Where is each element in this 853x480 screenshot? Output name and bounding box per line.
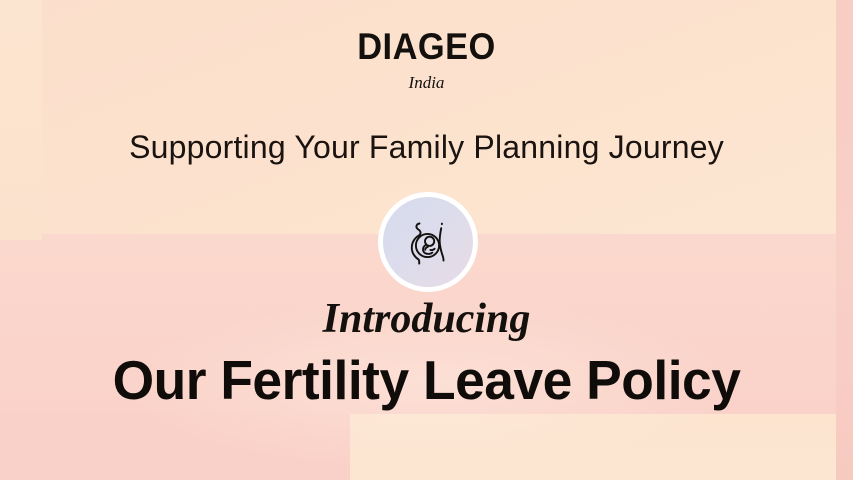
pregnancy-icon	[397, 211, 459, 273]
presentation-slide: DIAGEO India Supporting Your Family Plan…	[0, 0, 853, 480]
headline-text: Our Fertility Leave Policy	[13, 350, 840, 411]
pregnancy-badge	[378, 192, 478, 292]
brand-lockup: DIAGEO India	[0, 28, 853, 91]
brand-name: DIAGEO	[30, 28, 823, 65]
slide-content: DIAGEO India Supporting Your Family Plan…	[0, 0, 853, 480]
brand-region: India	[0, 74, 853, 91]
eyebrow-text: Introducing	[0, 296, 853, 342]
slide-tagline: Supporting Your Family Planning Journey	[0, 128, 853, 166]
